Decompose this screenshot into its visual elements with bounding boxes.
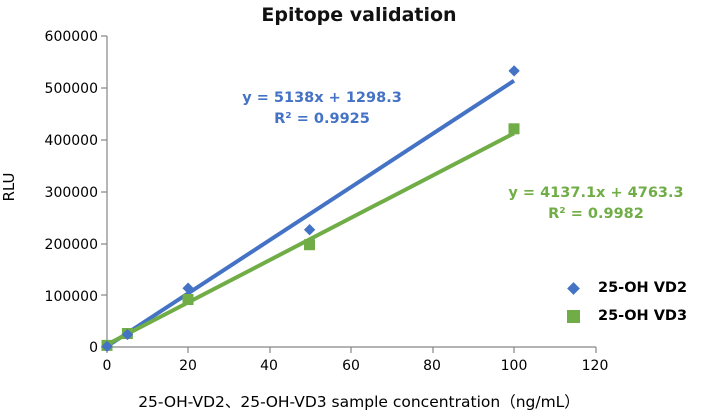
trendline-equation-vd3: y = 4137.1x + 4763.3 R² = 0.9982 — [490, 183, 702, 224]
chart-legend: 25-OH VD2 25-OH VD3 — [562, 274, 712, 330]
legend-item-vd2[interactable]: 25-OH VD2 — [562, 274, 712, 302]
trendline-equation-vd2-line1: y = 5138x + 1298.3 — [222, 88, 422, 109]
chart-container: Epitope validation RLU 25-OH-VD2、25-OH-V… — [0, 0, 718, 418]
data-point-vd3-4 — [509, 123, 520, 134]
trendline-equation-vd2-r2: R² = 0.9925 — [222, 109, 422, 130]
legend-label-vd2: 25-OH VD2 — [598, 280, 687, 296]
data-point-vd2-3 — [304, 224, 315, 235]
x-axis-ticks — [107, 347, 596, 353]
legend-label-vd3: 25-OH VD3 — [598, 308, 687, 324]
y-axis-ticks — [101, 36, 107, 347]
legend-item-vd3[interactable]: 25-OH VD3 — [562, 302, 712, 330]
diamond-marker-icon — [562, 284, 584, 293]
trendline-equation-vd2: y = 5138x + 1298.3 R² = 0.9925 — [222, 88, 422, 129]
trendline-vd3 — [107, 133, 514, 344]
trendline-equation-vd3-r2: R² = 0.9982 — [490, 204, 702, 225]
data-point-vd2-4 — [508, 65, 519, 76]
data-point-vd3-3 — [304, 239, 315, 250]
data-point-vd3-2 — [183, 294, 194, 305]
trendline-equation-vd3-line1: y = 4137.1x + 4763.3 — [490, 183, 702, 204]
square-marker-icon — [562, 310, 584, 323]
